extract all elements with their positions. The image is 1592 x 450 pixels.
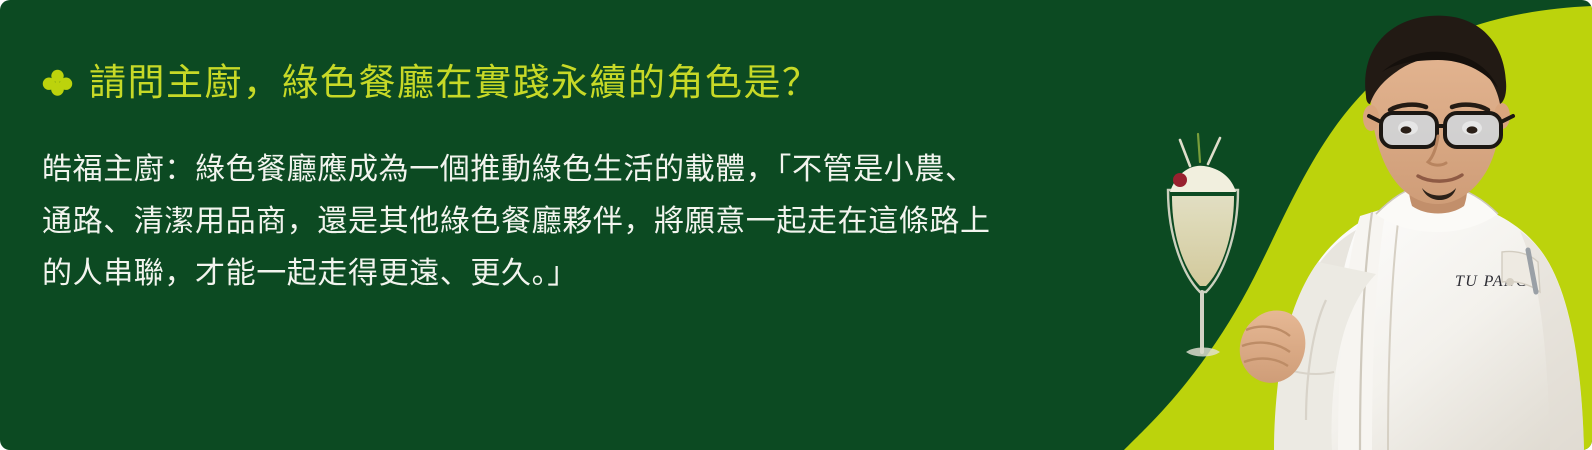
quote-banner: 請問主廚，綠色餐廳在實踐永續的角色是？ 皓福主廚：綠色餐廳應成為一個推動綠色生活… — [0, 0, 1592, 450]
banner-content: 請問主廚，綠色餐廳在實踐永續的角色是？ 皓福主廚：綠色餐廳應成為一個推動綠色生活… — [0, 0, 1120, 300]
clover-icon — [42, 69, 73, 100]
headline-text: 請問主廚，綠色餐廳在實踐永續的角色是？ — [89, 62, 821, 106]
quote-line-1: 皓福主廚：綠色餐廳應成為一個推動綠色生活的載體，「不管是小農、 — [42, 144, 1120, 196]
quote-paragraph: 皓福主廚：綠色餐廳應成為一個推動綠色生活的載體，「不管是小農、 通路、清潔用品商… — [42, 144, 1120, 300]
headline: 請問主廚，綠色餐廳在實踐永續的角色是？ — [42, 62, 1120, 106]
quote-line-3: 的人串聯，才能一起走得更遠、更久。」 — [42, 248, 1120, 300]
chef-portrait: TU PANG — [1150, 0, 1592, 450]
quote-line-2: 通路、清潔用品商，還是其他綠色餐廳夥伴，將願意一起走在這條路上 — [42, 196, 1120, 248]
jacket-embroidery: TU PANG — [1455, 273, 1529, 290]
